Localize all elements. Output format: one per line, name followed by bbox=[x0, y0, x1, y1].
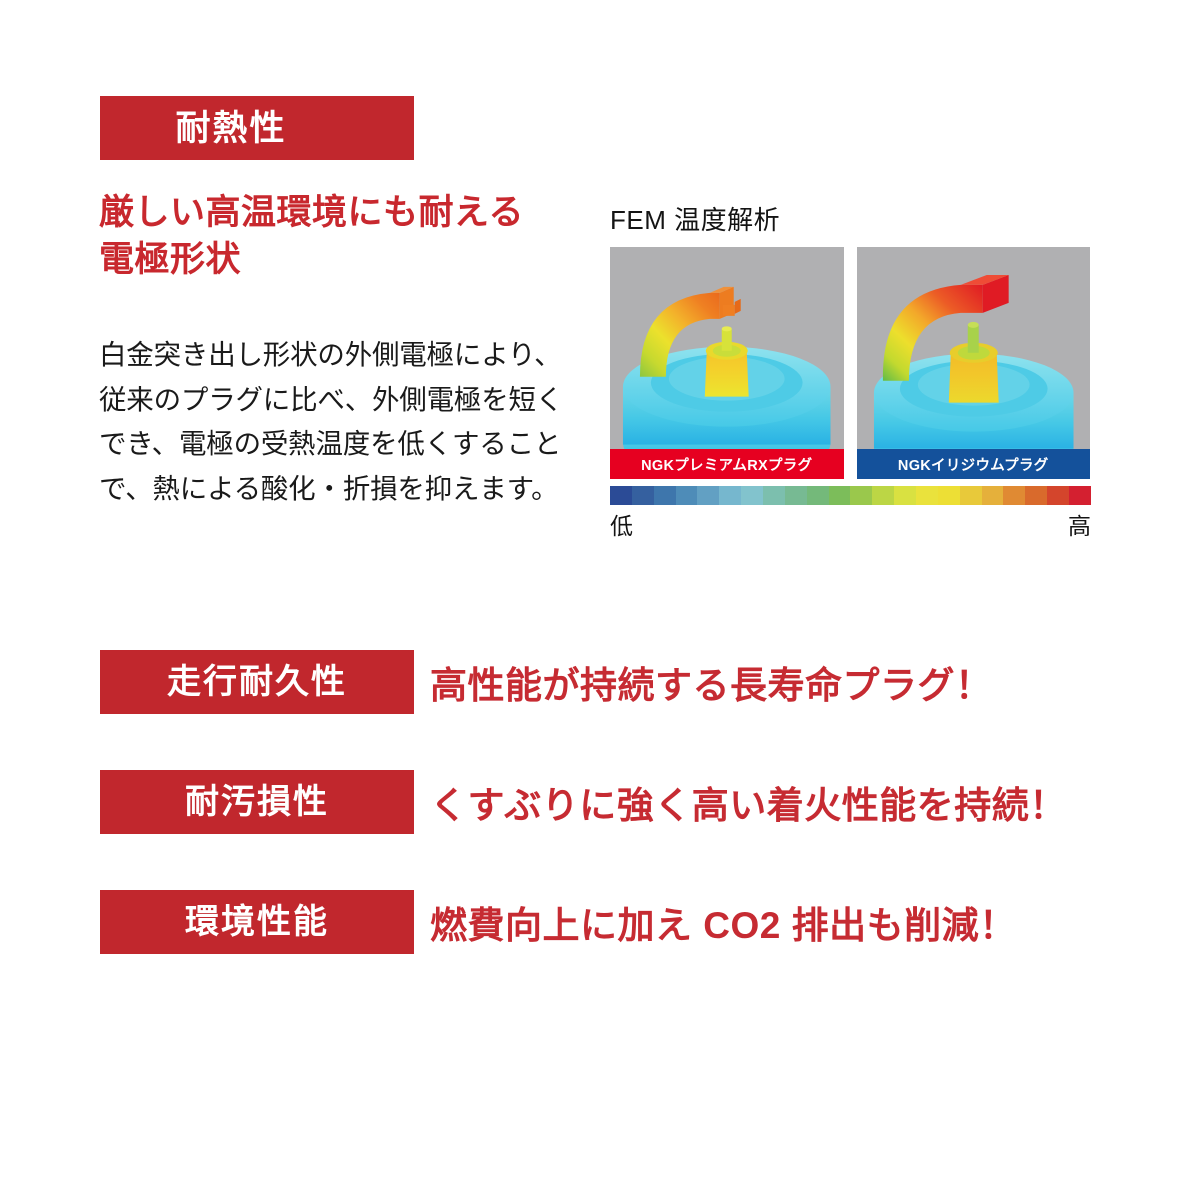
colorbar-band-1 bbox=[632, 486, 654, 505]
colorbar-band-7 bbox=[763, 486, 785, 505]
section-badge-heat-resistance: 耐熱性 bbox=[100, 96, 414, 160]
colorbar-band-14 bbox=[916, 486, 938, 505]
badge-label: 耐汚損性 bbox=[185, 785, 329, 819]
fem-panel-premium-rx: NGKプレミアムRXプラグ bbox=[610, 247, 844, 479]
fem-analysis-block: FEM 温度解析 bbox=[610, 200, 1090, 541]
fem-panel-group: NGKプレミアムRXプラグ bbox=[610, 247, 1090, 479]
fem-panel-caption-premium-rx: NGKプレミアムRXプラグ bbox=[610, 449, 844, 479]
feature-row-durability: 走行耐久性 高性能が持続する長寿命プラグ！ bbox=[100, 650, 1060, 714]
colorbar-band-6 bbox=[741, 486, 763, 505]
colorbar-band-3 bbox=[676, 486, 698, 505]
badge-label: 環境性能 bbox=[185, 905, 329, 939]
colorbar-band-18 bbox=[1003, 486, 1025, 505]
colorbar-band-0 bbox=[610, 486, 632, 505]
colorbar-band-12 bbox=[872, 486, 894, 505]
caption-text: NGKプレミアムRXプラグ bbox=[641, 454, 812, 475]
colorbar-band-8 bbox=[785, 486, 807, 505]
fem-panel-caption-iridium: NGKイリジウムプラグ bbox=[857, 449, 1091, 479]
feature-badge-environmental: 環境性能 bbox=[100, 890, 414, 954]
badge-label: 走行耐久性 bbox=[167, 665, 347, 699]
colorbar-labels: 低 高 bbox=[610, 507, 1091, 541]
colorbar-band-13 bbox=[894, 486, 916, 505]
colorbar-high-label: 高 bbox=[1068, 507, 1091, 541]
colorbar-band-17 bbox=[982, 486, 1004, 505]
colorbar-band-19 bbox=[1025, 486, 1047, 505]
feature-row-environmental: 環境性能 燃費向上に加え CO2 排出も削減！ bbox=[100, 890, 1060, 954]
colorbar-band-16 bbox=[960, 486, 982, 505]
badge-label: 耐熱性 bbox=[175, 111, 286, 146]
temperature-colorbar bbox=[610, 486, 1091, 505]
colorbar-band-2 bbox=[654, 486, 676, 505]
heading-heat-resistance: 厳しい高温環境にも耐える 電極形状 bbox=[99, 190, 599, 283]
colorbar-band-15 bbox=[938, 486, 960, 505]
heading-line-1: 厳しい高温環境にも耐える bbox=[99, 190, 599, 237]
feature-description-environmental: 燃費向上に加え CO2 排出も削減！ bbox=[430, 890, 1017, 954]
heading-line-2: 電極形状 bbox=[99, 237, 599, 284]
feature-description-durability: 高性能が持続する長寿命プラグ！ bbox=[430, 650, 993, 714]
colorbar-band-11 bbox=[850, 486, 872, 505]
feature-row-fouling-resistance: 耐汚損性 くすぶりに強く高い着火性能を持続！ bbox=[100, 770, 1060, 834]
feature-description-fouling-resistance: くすぶりに強く高い着火性能を持続！ bbox=[430, 770, 1067, 834]
fem-thermal-image-premium-rx bbox=[610, 247, 843, 479]
fem-analysis-title: FEM 温度解析 bbox=[610, 200, 1090, 237]
body-text-heat-resistance: 白金突き出し形状の外側電極により、従来のプラグに比べ、外側電極を短くでき、電極の… bbox=[99, 333, 584, 511]
caption-text: NGKイリジウムプラグ bbox=[898, 454, 1049, 475]
colorbar-band-5 bbox=[719, 486, 741, 505]
fem-panel-iridium: NGKイリジウムプラグ bbox=[857, 247, 1091, 479]
colorbar-band-10 bbox=[829, 486, 851, 505]
colorbar-band-9 bbox=[807, 486, 829, 505]
colorbar-band-21 bbox=[1069, 486, 1091, 505]
fem-thermal-image-iridium bbox=[857, 247, 1090, 479]
feature-badge-durability: 走行耐久性 bbox=[100, 650, 414, 714]
colorbar-band-4 bbox=[697, 486, 719, 505]
feature-badge-fouling-resistance: 耐汚損性 bbox=[100, 770, 414, 834]
colorbar-band-20 bbox=[1047, 486, 1069, 505]
colorbar-low-label: 低 bbox=[610, 507, 633, 541]
